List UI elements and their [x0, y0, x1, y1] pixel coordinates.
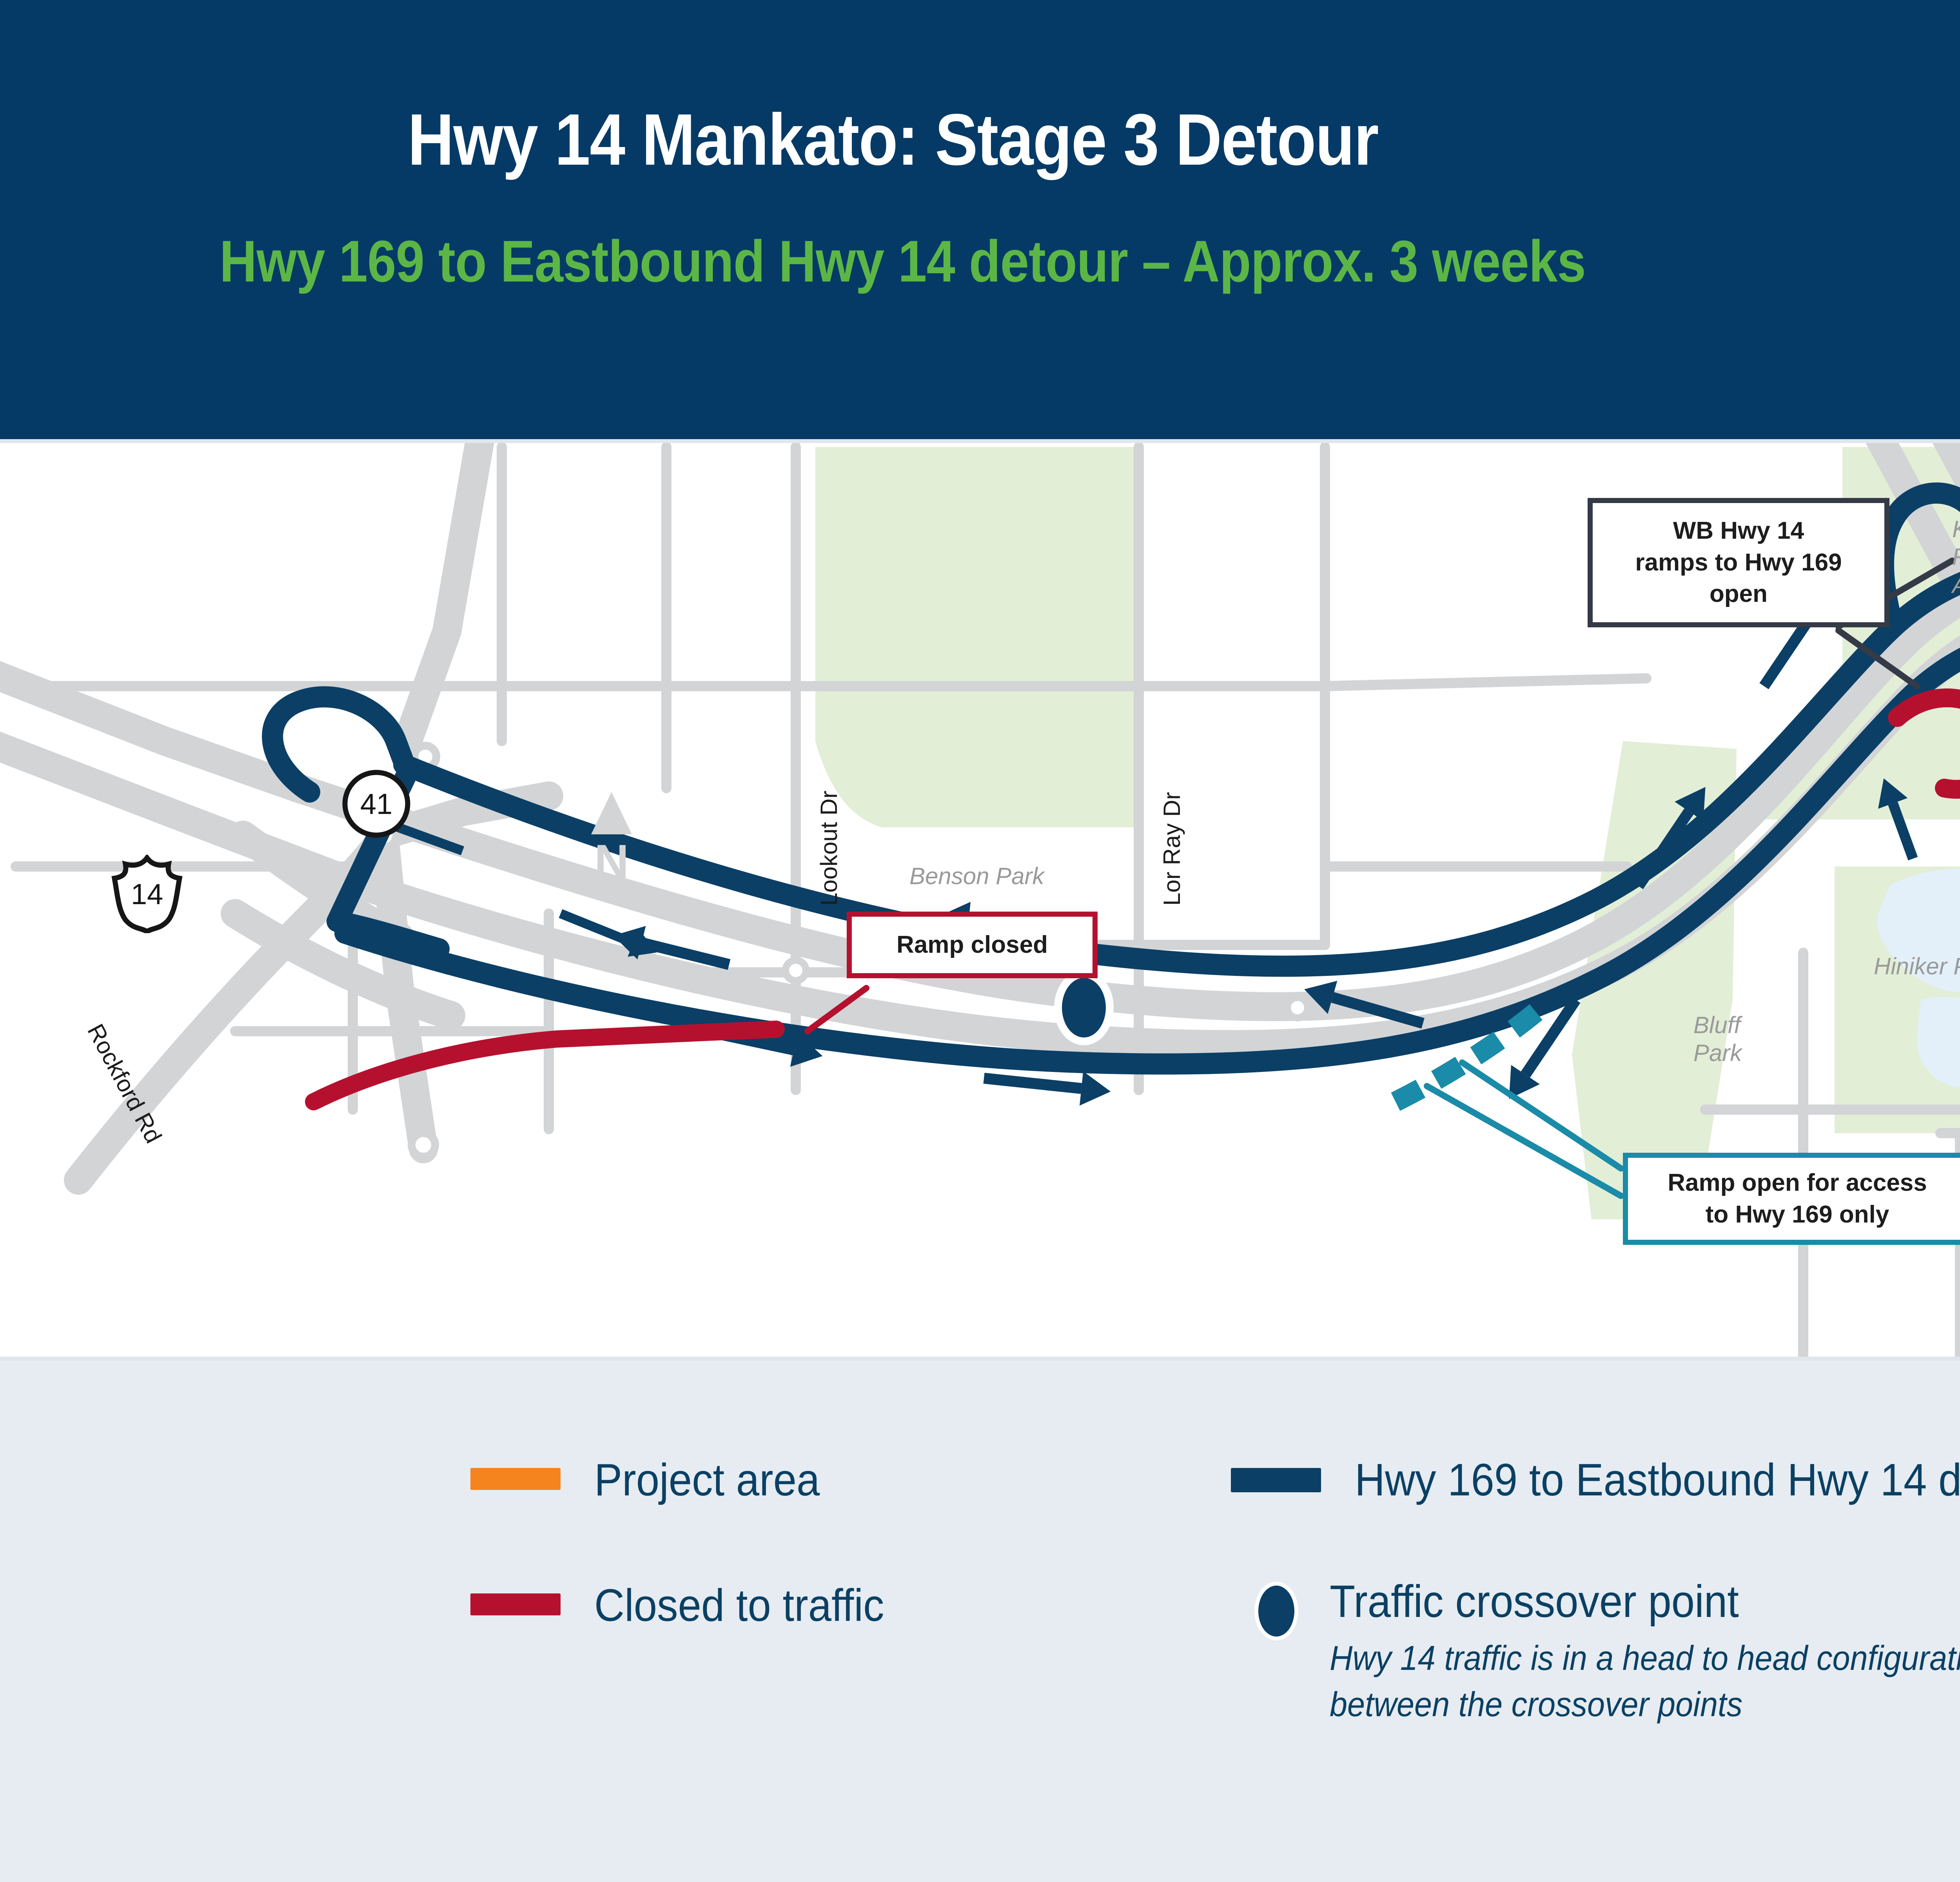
- north-arrow-icon: N: [576, 792, 647, 885]
- place-label-line: Kiwanis: [1952, 516, 1960, 543]
- place-label-line: Bluff: [1693, 1012, 1742, 1039]
- shield-mn-41: 41: [341, 768, 412, 839]
- north-arrow-triangle: [591, 792, 632, 834]
- legend-text: Hwy 169 to Eastbound Hwy 14 detour: [1355, 1455, 1960, 1506]
- place-label-line: Area: [1952, 571, 1960, 599]
- legend-label: Traffic crossover point: [1330, 1576, 1960, 1627]
- shield-number: 14: [110, 855, 184, 933]
- north-arrow-label: N: [576, 837, 647, 885]
- callout-ramp-open-169-only[interactable]: Ramp open for access to Hwy 169 only: [1623, 1153, 1960, 1245]
- callout-ramp-closed[interactable]: Ramp closed: [847, 912, 1098, 978]
- legend-item-project-area: Project area: [470, 1455, 839, 1506]
- callout-line: WB Hwy 14: [1635, 515, 1842, 547]
- place-label-kiwanis-recreation-area: Kiwanis Recreation Area: [1952, 516, 1960, 599]
- page-subtitle: Hwy 169 to Eastbound Hwy 14 detour – App…: [220, 227, 1586, 295]
- callout-line: to Hwy 169 only: [1668, 1199, 1927, 1231]
- legend-swatch-crossover-point: [1254, 1582, 1298, 1640]
- legend-swatch-project-area: [470, 1468, 561, 1490]
- callout-line: Ramp closed: [897, 929, 1048, 961]
- legend-sublabel-line2: between the crossover points: [1330, 1682, 1960, 1727]
- callout-line: Ramp open for access: [1668, 1167, 1927, 1199]
- legend-item-closed-to-traffic: Closed to traffic: [470, 1580, 909, 1631]
- shield-us-14: 14: [110, 855, 184, 933]
- callout-wb-ramps-open[interactable]: WB Hwy 14 ramps to Hwy 169 open: [1588, 498, 1889, 627]
- street-label-lookout-dr: Lookout Dr: [815, 791, 842, 906]
- street-label-lor-ray-dr: Lor Ray Dr: [1158, 792, 1185, 906]
- detour-map-graphic: Hwy 14 Mankato: Stage 3 Detour Hwy 169 t…: [0, 0, 1960, 1882]
- legend-text: Traffic crossover point Hwy 14 traffic i…: [1330, 1576, 1960, 1727]
- place-label-hiniker-park: Hiniker Park: [1874, 953, 1960, 981]
- map-canvas[interactable]: Benson Park Kiwanis Recreation Area Hini…: [0, 439, 1960, 1361]
- place-label-line: Park: [1693, 1039, 1742, 1067]
- callout-text: WB Hwy 14 ramps to Hwy 169 open: [1635, 515, 1842, 610]
- place-label-line: Benson Park: [909, 863, 1044, 890]
- legend-label: Hwy 169 to Eastbound Hwy 14 detour: [1355, 1455, 1960, 1506]
- legend-label: Project area: [594, 1455, 820, 1506]
- callout-line: open: [1635, 578, 1842, 610]
- shield-number: 41: [341, 768, 412, 839]
- legend-item-crossover-point: Traffic crossover point Hwy 14 traffic i…: [1254, 1576, 1960, 1727]
- legend-text: Closed to traffic: [594, 1580, 909, 1631]
- legend-sublabel-line1: Hwy 14 traffic is in a head to head conf…: [1330, 1636, 1960, 1680]
- callout-line: ramps to Hwy 169: [1635, 547, 1842, 579]
- legend-item-detour-route: Hwy 169 to Eastbound Hwy 14 detour: [1231, 1455, 1960, 1506]
- legend-swatch-detour-route: [1231, 1468, 1321, 1492]
- legend-label: Closed to traffic: [594, 1580, 884, 1631]
- header-banner: Hwy 14 Mankato: Stage 3 Detour Hwy 169 t…: [0, 0, 1960, 439]
- callout-text: Ramp open for access to Hwy 169 only: [1668, 1167, 1927, 1230]
- legend-panel: Project area Closed to traffic Hwy 169 t…: [0, 1361, 1960, 1882]
- place-label-bluff-park: Bluff Park: [1693, 1012, 1742, 1067]
- legend-text: Project area: [594, 1455, 839, 1506]
- callout-text: Ramp closed: [897, 929, 1048, 961]
- legend-swatch-closed-to-traffic: [470, 1593, 561, 1615]
- page-title: Hwy 14 Mankato: Stage 3 Detour: [408, 98, 1378, 182]
- place-label-line: Hiniker Park: [1874, 953, 1960, 981]
- place-label-line: Recreation: [1952, 543, 1960, 571]
- place-label-benson-park: Benson Park: [909, 863, 1044, 890]
